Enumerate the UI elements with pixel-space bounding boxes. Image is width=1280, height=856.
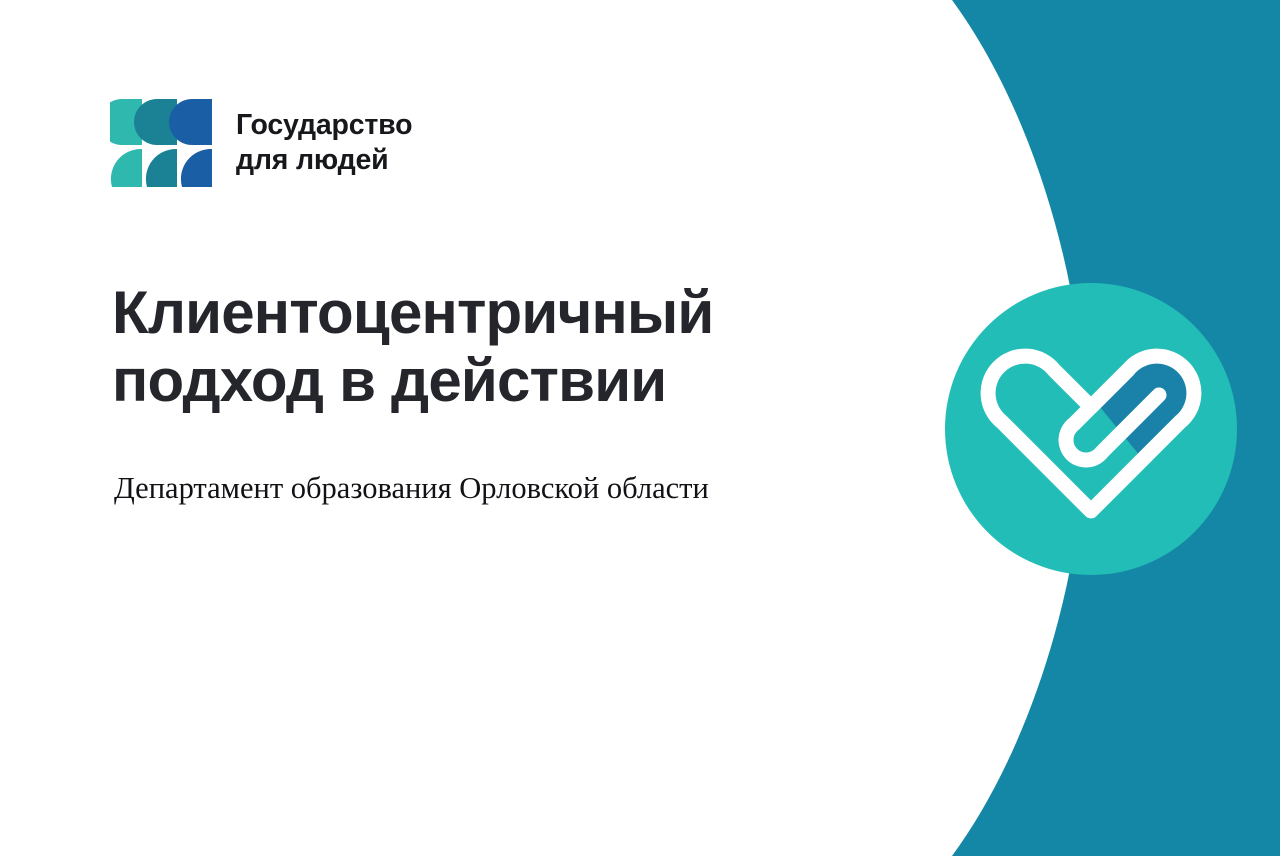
brand-lockup: Государство для людей [110,97,412,189]
page-title: Клиентоцентричный подход в действии [112,279,902,415]
page-subtitle: Департамент образования Орловской област… [114,470,894,507]
heart-emblem [945,283,1237,575]
gosudarstvo-dlya-lyudey-mark-icon [110,97,214,189]
interlocking-heart-icon [945,283,1237,575]
slide-canvas: Государство для людей Клиентоцентричный … [0,0,1280,856]
brand-name: Государство для людей [236,108,412,178]
